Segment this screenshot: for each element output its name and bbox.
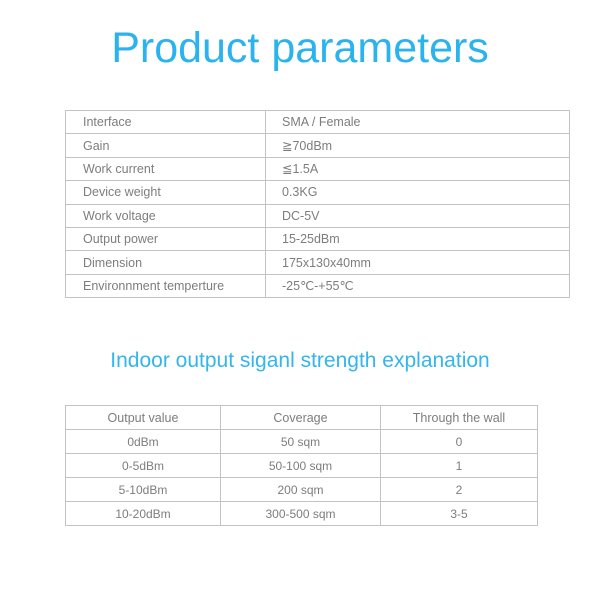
cell-output-value: 0dBm <box>66 430 221 454</box>
table-header-row: Output value Coverage Through the wall <box>66 406 538 430</box>
param-label: Environnment temperture <box>66 274 266 297</box>
cell-output-value: 10-20dBm <box>66 502 221 526</box>
param-label: Dimension <box>66 251 266 274</box>
param-value: 0.3KG <box>266 181 570 204</box>
cell-output-value: 0-5dBm <box>66 454 221 478</box>
param-label: Device weight <box>66 181 266 204</box>
table-row: Device weight 0.3KG <box>66 181 570 204</box>
product-parameters-page: Product parameters Interface SMA / Femal… <box>0 0 600 600</box>
page-title: Product parameters <box>0 22 600 74</box>
cell-coverage: 50 sqm <box>221 430 381 454</box>
param-label: Interface <box>66 111 266 134</box>
cell-through-the-wall: 1 <box>381 454 538 478</box>
column-header-through-the-wall: Through the wall <box>381 406 538 430</box>
section-subtitle: Indoor output siganl strength explanatio… <box>0 348 600 374</box>
table-row: Work voltage DC-5V <box>66 204 570 227</box>
param-value: ≧70dBm <box>266 134 570 157</box>
cell-through-the-wall: 2 <box>381 478 538 502</box>
param-value: 15-25dBm <box>266 227 570 250</box>
table-row: Interface SMA / Female <box>66 111 570 134</box>
cell-through-the-wall: 3-5 <box>381 502 538 526</box>
table-row: Output power 15-25dBm <box>66 227 570 250</box>
param-label: Work voltage <box>66 204 266 227</box>
cell-through-the-wall: 0 <box>381 430 538 454</box>
param-label: Work current <box>66 157 266 180</box>
table-row: Work current ≦1.5A <box>66 157 570 180</box>
table-row: 5-10dBm 200 sqm 2 <box>66 478 538 502</box>
cell-coverage: 300-500 sqm <box>221 502 381 526</box>
param-value: ≦1.5A <box>266 157 570 180</box>
param-value: SMA / Female <box>266 111 570 134</box>
signal-strength-table: Output value Coverage Through the wall 0… <box>65 405 538 526</box>
param-value: 175x130x40mm <box>266 251 570 274</box>
table-row: 10-20dBm 300-500 sqm 3-5 <box>66 502 538 526</box>
table-row: Dimension 175x130x40mm <box>66 251 570 274</box>
table-row: Gain ≧70dBm <box>66 134 570 157</box>
column-header-output-value: Output value <box>66 406 221 430</box>
param-label: Output power <box>66 227 266 250</box>
column-header-coverage: Coverage <box>221 406 381 430</box>
param-label: Gain <box>66 134 266 157</box>
param-value: -25℃-+55℃ <box>266 274 570 297</box>
cell-coverage: 200 sqm <box>221 478 381 502</box>
table-row: 0-5dBm 50-100 sqm 1 <box>66 454 538 478</box>
param-value: DC-5V <box>266 204 570 227</box>
table-row: 0dBm 50 sqm 0 <box>66 430 538 454</box>
table-row: Environnment temperture -25℃-+55℃ <box>66 274 570 297</box>
cell-coverage: 50-100 sqm <box>221 454 381 478</box>
product-parameters-table: Interface SMA / Female Gain ≧70dBm Work … <box>65 110 570 298</box>
cell-output-value: 5-10dBm <box>66 478 221 502</box>
